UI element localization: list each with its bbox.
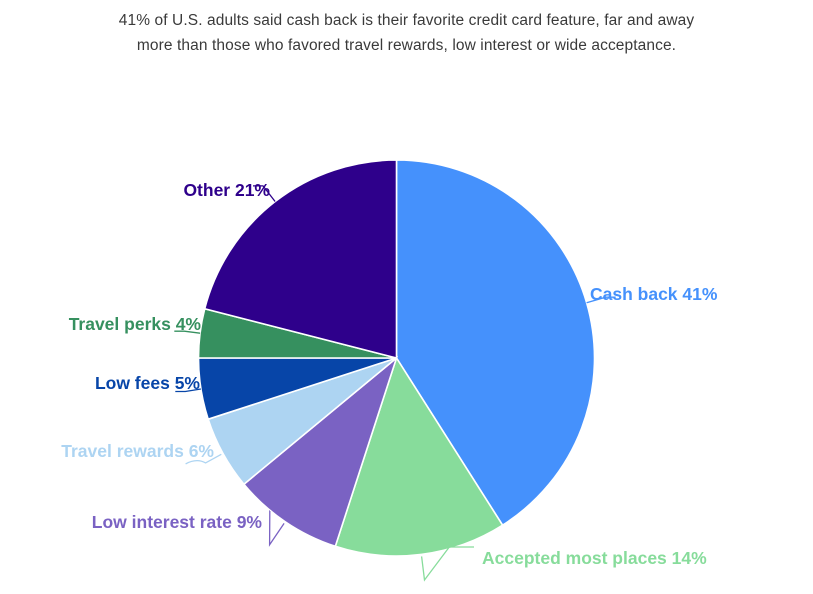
pie-label-accepted-most-places: Accepted most places 14% bbox=[482, 550, 707, 568]
pie-label-cash-back: Cash back 41% bbox=[590, 286, 717, 304]
pie-label-travel-rewards: Travel rewards 6% bbox=[0, 443, 214, 461]
pie-label-low-interest-rate: Low interest rate 9% bbox=[0, 514, 262, 532]
pie-label-travel-perks: Travel perks 4% bbox=[0, 316, 201, 334]
pie-label-low-fees: Low fees 5% bbox=[0, 375, 200, 393]
pie-label-other: Other 21% bbox=[0, 182, 270, 200]
pie-slice-group bbox=[199, 160, 595, 556]
pie-chart-figure: 41% of U.S. adults said cash back is the… bbox=[0, 0, 813, 594]
